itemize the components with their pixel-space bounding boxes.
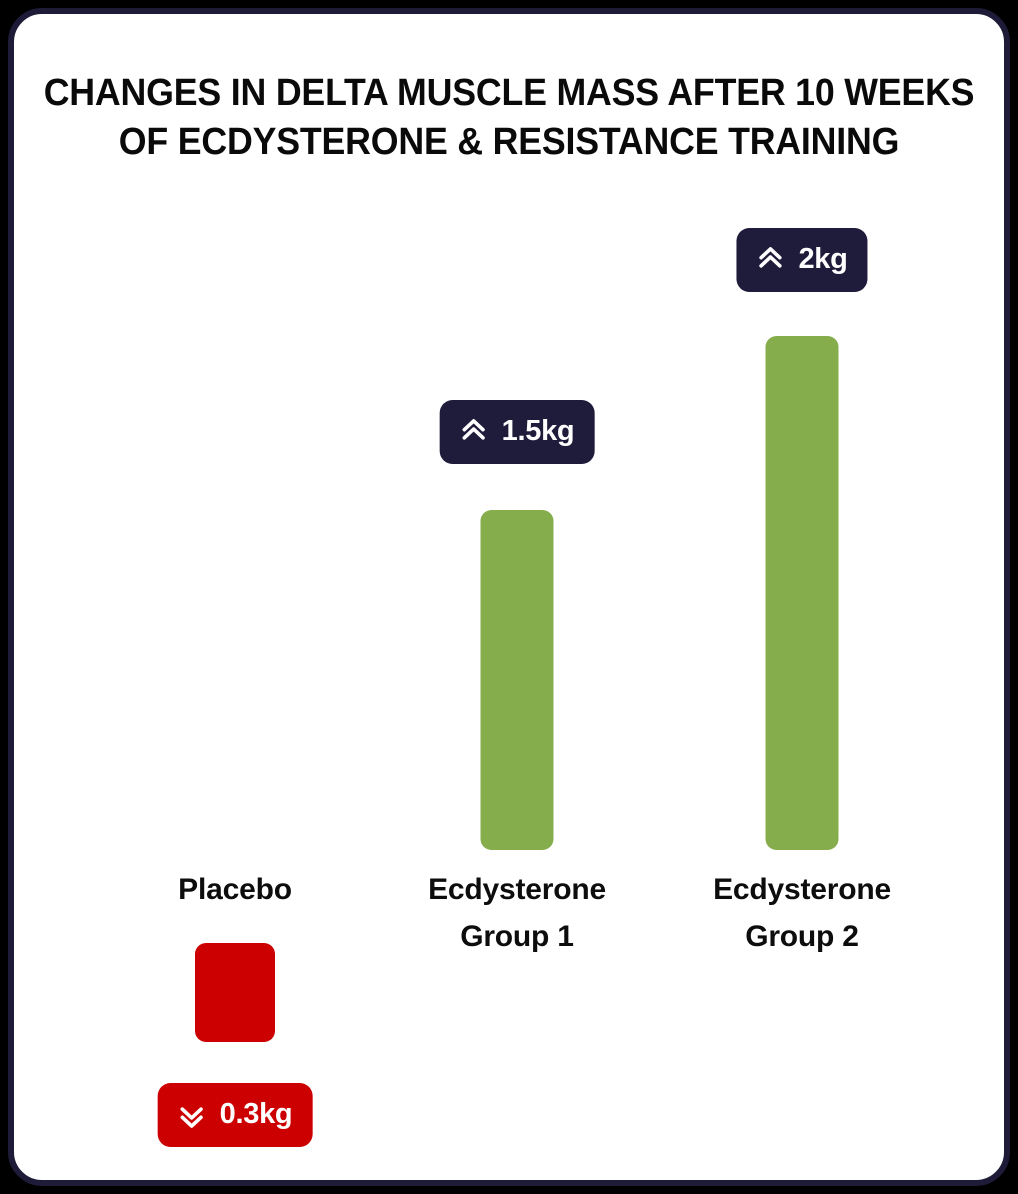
bar-group-placebo: Placebo 0.3kg [119, 14, 351, 1192]
category-label-line-1: Placebo [119, 866, 351, 913]
value-badge-placebo: 0.3kg [158, 1083, 313, 1147]
value-badge-label-ecdysterone-2: 2kg [798, 245, 847, 276]
double-chevron-up-icon [756, 246, 784, 274]
category-label-ecdysterone-1: Ecdysterone Group 1 [401, 866, 633, 960]
bar-ecdysterone-2 [766, 336, 839, 850]
bar-group-ecdysterone-2: 2kg Ecdysterone Group 2 [686, 14, 918, 1192]
bar-placebo [195, 943, 275, 1042]
chart-plot-area: Placebo 0.3kg [14, 14, 1016, 1192]
bar-ecdysterone-1 [481, 510, 554, 850]
category-label-line-2: Group 2 [686, 913, 918, 960]
value-badge-label-placebo: 0.3kg [220, 1100, 293, 1131]
category-label-ecdysterone-2: Ecdysterone Group 2 [686, 866, 918, 960]
chart-card: CHANGES IN DELTA MUSCLE MASS AFTER 10 WE… [8, 8, 1010, 1186]
bar-group-ecdysterone-1: 1.5kg Ecdysterone Group 1 [401, 14, 633, 1192]
category-label-placebo: Placebo [119, 866, 351, 913]
double-chevron-down-icon [178, 1101, 206, 1129]
value-badge-label-ecdysterone-1: 1.5kg [502, 417, 575, 448]
screenshot-root: CHANGES IN DELTA MUSCLE MASS AFTER 10 WE… [0, 0, 1018, 1194]
category-label-line-1: Ecdysterone [686, 866, 918, 913]
value-badge-ecdysterone-2: 2kg [736, 228, 867, 292]
value-badge-ecdysterone-1: 1.5kg [440, 400, 595, 464]
category-label-line-2: Group 1 [401, 913, 633, 960]
double-chevron-up-icon [460, 418, 488, 446]
category-label-line-1: Ecdysterone [401, 866, 633, 913]
